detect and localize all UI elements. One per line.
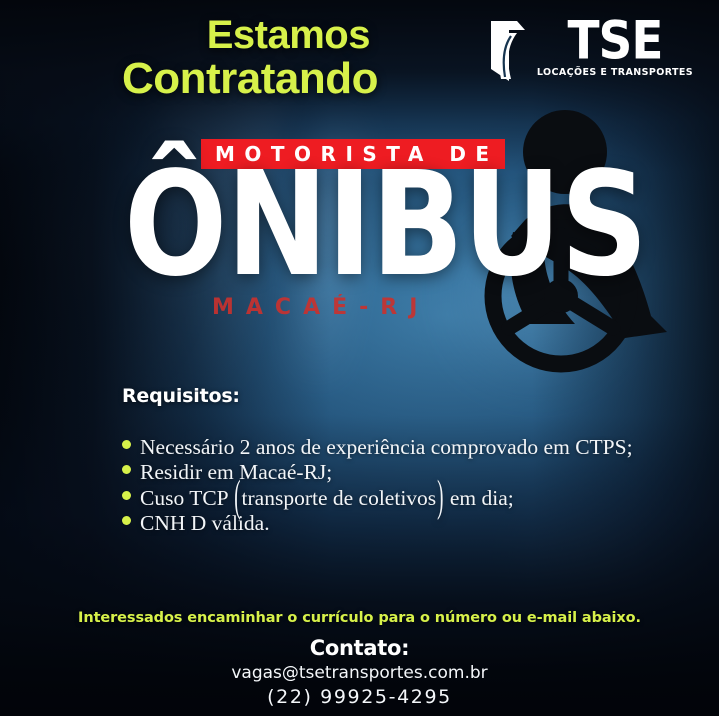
company-logo: TSE LOCAÇÕES E TRANSPORTES (487, 18, 693, 88)
requirements-title: Requisitos: (122, 385, 240, 407)
contact-block: Contato: vagas@tsetransportes.com.br (22… (0, 636, 719, 708)
bullet-icon (122, 491, 131, 500)
bullet-icon (122, 440, 131, 449)
job-poster: Estamos Contratando TSE LOCAÇÕES E TRANS… (0, 0, 719, 716)
requirement-text: Necessário 2 anos de experiência comprov… (140, 435, 633, 460)
contact-email[interactable]: vagas@tsetransportes.com.br (0, 663, 719, 683)
contact-label: Contato: (0, 636, 719, 660)
requirement-text-after: em dia; (445, 486, 514, 510)
job-location: MACAÉ-RJ (212, 295, 429, 320)
logo-wordmark: TSE LOCAÇÕES E TRANSPORTES (537, 18, 693, 78)
list-item: Cuso TCP (transporte de coletivos) em di… (122, 486, 633, 511)
list-item: CNH D válida. (122, 511, 633, 536)
logo-name: TSE (567, 18, 662, 65)
requirement-text-inside: transporte de coletivos (242, 486, 437, 510)
paren-close: ) (436, 473, 444, 526)
role-title: ÔNIBUS (124, 152, 647, 296)
list-item: Necessário 2 anos de experiência comprov… (122, 435, 633, 460)
hiring-headline: Estamos Contratando (28, 16, 378, 100)
requirement-text-before: Cuso TCP (140, 486, 233, 510)
paren-open: ( (233, 473, 241, 526)
list-item: Residir em Macaé-RJ; (122, 460, 633, 485)
call-to-action-text: Interessados encaminhar o currículo para… (0, 610, 719, 626)
bullet-icon (122, 516, 131, 525)
contact-phone[interactable]: (22) 99925-4295 (0, 686, 719, 708)
requirements-list: Necessário 2 anos de experiência comprov… (122, 435, 633, 536)
bullet-icon (122, 465, 131, 474)
hiring-line-2: Contratando (28, 57, 378, 100)
requirement-text: CNH D válida. (140, 511, 270, 536)
hiring-line-1: Estamos (28, 16, 378, 55)
requirement-text: Cuso TCP (transporte de coletivos) em di… (140, 486, 514, 511)
road-swoosh-icon (487, 19, 533, 88)
